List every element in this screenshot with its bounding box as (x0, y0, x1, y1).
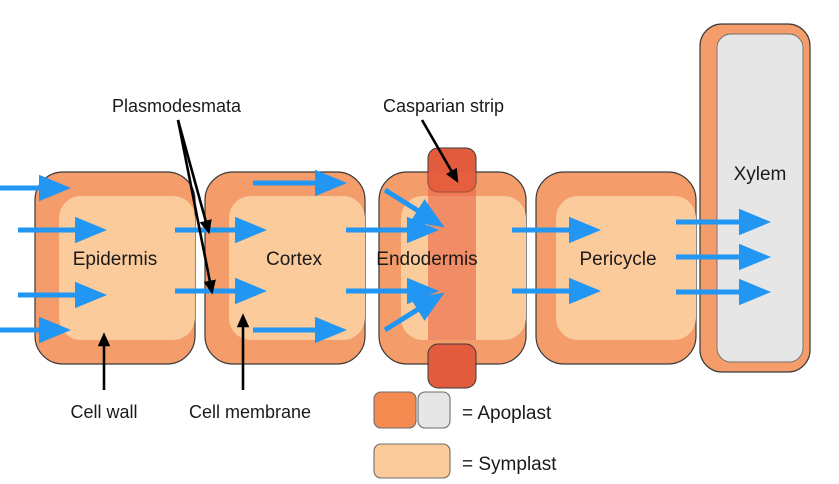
cortex-label: Cortex (266, 249, 322, 270)
cell-epidermis: Epidermis (35, 172, 195, 364)
pericycle-label: Pericycle (579, 249, 656, 270)
legend-swatch-apoplast-wall (374, 392, 416, 428)
cell-xylem: Xylem (700, 24, 810, 372)
legend-swatch-symplast (374, 444, 450, 478)
plasmodesmata-label: Plasmodesmata (112, 96, 242, 116)
root-water-pathway-diagram: Epidermis Cortex Pericycle Xylem Endoder… (0, 0, 839, 484)
legend-label-symplast: = Symplast (462, 454, 557, 475)
casparian-strip-label: Casparian strip (383, 96, 504, 116)
cell-pericycle: Pericycle (536, 172, 696, 364)
epidermis-label: Epidermis (73, 249, 157, 270)
xylem-label: Xylem (734, 164, 787, 185)
xylem-lumen (717, 34, 803, 362)
cell-cortex: Cortex (205, 172, 365, 364)
diagram-canvas: Epidermis Cortex Pericycle Xylem Endoder… (0, 0, 839, 484)
legend-label-apoplast: = Apoplast (462, 403, 552, 424)
legend-swatch-apoplast-lumen (418, 392, 450, 428)
cell-wall-label: Cell wall (70, 402, 137, 422)
casparian-strip-bottom-cap (428, 344, 476, 388)
cell-membrane-label: Cell membrane (189, 402, 311, 422)
endodermis-label: Endodermis (376, 249, 477, 270)
